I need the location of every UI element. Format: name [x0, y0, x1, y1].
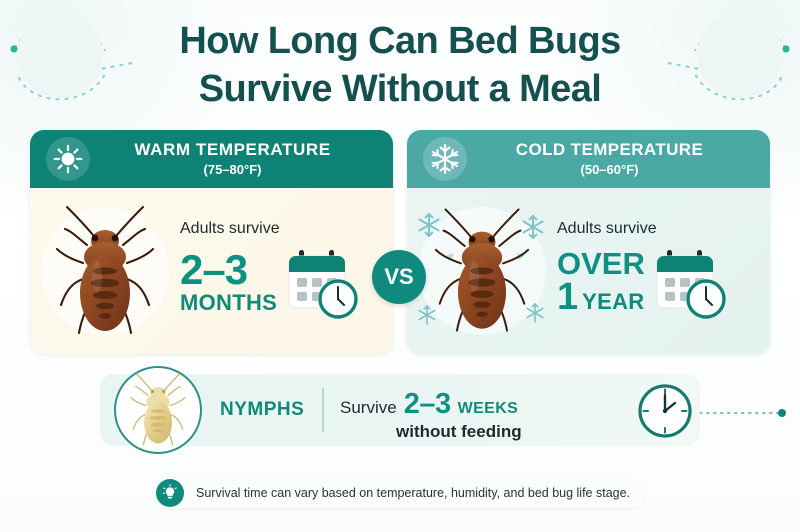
warm-stat-row: 2–3 MONTHS — [180, 242, 383, 322]
lightbulb-icon — [156, 479, 184, 507]
cold-value-line: 1 YEAR — [557, 279, 645, 315]
nymph-text-block: Survive 2–3 WEEKS without feeding — [340, 388, 630, 442]
footer-note: Survival time can vary based on temperat… — [155, 478, 645, 508]
clock-icon — [636, 382, 694, 440]
warm-unit: MONTHS — [180, 291, 277, 314]
card-cold-temperature: COLD TEMPERATURE (50–60°F) — [407, 130, 770, 354]
snowflake-icon — [423, 137, 467, 181]
warm-card-title: WARM TEMPERATURE — [90, 141, 375, 160]
nymph-survive-word: Survive — [340, 398, 397, 418]
warm-card-body: Adults survive 2–3 MONTHS — [30, 188, 393, 354]
nymph-divider — [322, 388, 324, 432]
cold-stat-text: OVER 1 YEAR — [557, 249, 645, 315]
nymph-bar: NYMPHS Survive 2–3 WEEKS without feeding — [100, 374, 700, 446]
calendar-clock-icon — [653, 242, 731, 322]
nymph-label: NYMPHS — [220, 399, 304, 421]
vs-badge: VS — [372, 250, 426, 304]
cold-card-subtitle: (50–60°F) — [467, 162, 752, 177]
cold-card-title: COLD TEMPERATURE — [467, 141, 752, 160]
nymph-illustration — [114, 366, 202, 454]
sun-icon — [46, 137, 90, 181]
warm-card-subtitle: (75–80°F) — [90, 162, 375, 177]
nymph-line-1: Survive 2–3 WEEKS — [340, 388, 630, 421]
card-warm-temperature: WARM TEMPERATURE (75–80°F) — [30, 130, 393, 354]
cold-header-text: COLD TEMPERATURE (50–60°F) — [467, 141, 770, 177]
dotted-trail — [700, 408, 788, 418]
cold-card-body: Adults survive OVER 1 YEAR — [407, 188, 770, 354]
warm-header-text: WARM TEMPERATURE (75–80°F) — [90, 141, 393, 177]
nymph-unit: WEEKS — [458, 400, 519, 418]
warm-info-slot: Adults survive 2–3 MONTHS — [180, 220, 393, 322]
footer-note-text: Survival time can vary based on temperat… — [196, 486, 630, 500]
warm-adults-label: Adults survive — [180, 220, 383, 238]
cold-card-header: COLD TEMPERATURE (50–60°F) — [407, 130, 770, 188]
nymph-subline: without feeding — [340, 422, 630, 442]
cold-value-prefix: OVER — [557, 249, 645, 279]
warm-stat-text: 2–3 MONTHS — [180, 250, 277, 313]
calendar-clock-icon — [285, 242, 363, 322]
title-line-1: How Long Can Bed Bugs — [0, 18, 800, 66]
cold-stat-row: OVER 1 YEAR — [557, 242, 760, 322]
page-title: How Long Can Bed Bugs Survive Without a … — [0, 18, 800, 113]
title-line-2: Survive Without a Meal — [0, 66, 800, 114]
warm-value: 2–3 — [180, 250, 277, 290]
cold-adults-label: Adults survive — [557, 220, 760, 238]
bed-bug-illustration — [432, 207, 532, 335]
cold-bug-slot — [407, 188, 557, 354]
cold-value: 1 — [557, 279, 578, 315]
warm-card-header: WARM TEMPERATURE (75–80°F) — [30, 130, 393, 188]
warm-bug-slot — [30, 188, 180, 354]
comparison-cards: WARM TEMPERATURE (75–80°F) — [30, 130, 770, 354]
nymph-value: 2–3 — [404, 388, 451, 421]
bed-bug-illustration — [53, 205, 157, 337]
cold-unit: YEAR — [582, 290, 644, 313]
infographic-canvas: How Long Can Bed Bugs Survive Without a … — [0, 0, 800, 532]
cold-info-slot: Adults survive OVER 1 YEAR — [557, 220, 770, 322]
